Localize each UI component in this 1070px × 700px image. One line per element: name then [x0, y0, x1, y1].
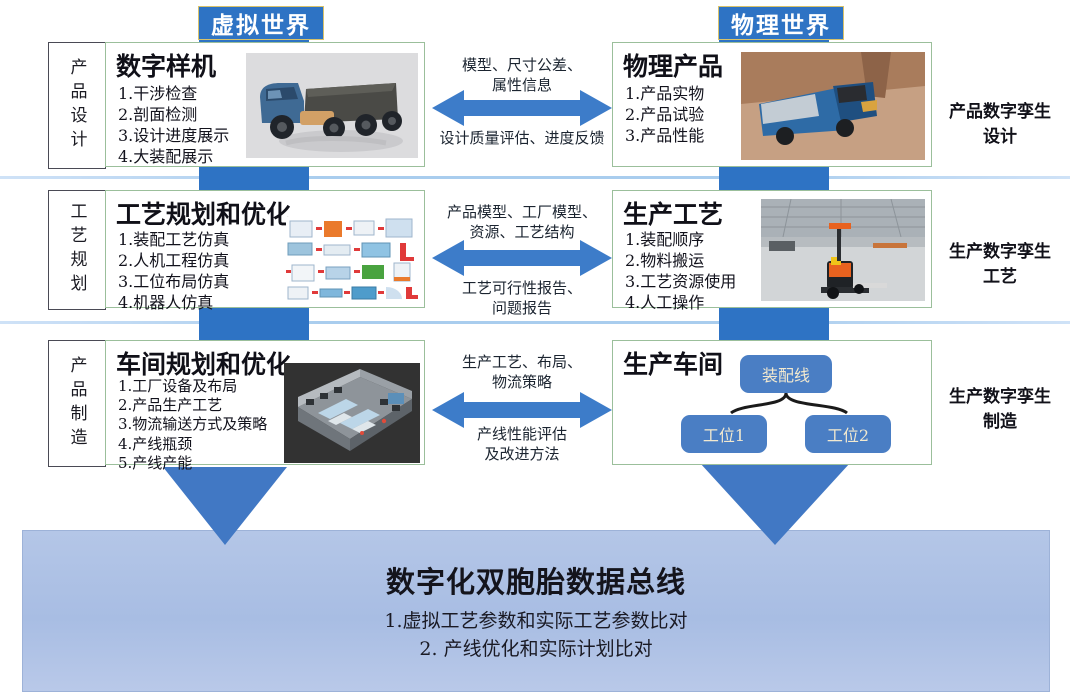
card-list-item: 5.产线产能: [118, 454, 267, 473]
exchange-label-forward: 产品模型、工厂模型、资源、工艺结构: [422, 202, 622, 243]
process-flow-icons-image: [286, 217, 418, 301]
exchange-arrow-process: [432, 238, 612, 278]
card-item-list: 1.干涉检查2.剖面检测3.设计进度展示4.大装配展示: [118, 83, 229, 167]
card-list-item: 4.大装配展示: [118, 146, 229, 167]
card-list-item: 1.工厂设备及布局: [118, 377, 267, 396]
stage-label-text: 工艺规划: [65, 202, 90, 298]
node-station-1[interactable]: 工位1: [681, 415, 767, 453]
down-arrow-virtual-to-bus: [163, 467, 287, 550]
card-list-item: 1.装配工艺仿真: [118, 229, 229, 250]
card-list-item: 4.产线瓶颈: [118, 435, 267, 454]
card-list-item: 4.人工操作: [625, 292, 736, 313]
card-list-item: 1.产品实物: [625, 83, 704, 104]
down-arrow-physical-to-bus: [700, 463, 850, 550]
card-physical-product[interactable]: 物理产品 1.产品实物2.产品试验3.产品性能: [612, 42, 932, 167]
node-station-2[interactable]: 工位2: [805, 415, 891, 453]
card-list-item: 3.物流输送方式及策略: [118, 415, 267, 434]
card-title: 工艺规划和优化: [116, 195, 291, 231]
workshop-3d-layout-image: [284, 363, 420, 463]
digital-mockup-truck-cad-image: [246, 53, 418, 158]
card-list-item: 4.机器人仿真: [118, 292, 229, 313]
exchange-label-forward: 生产工艺、布局、物流策略: [422, 352, 622, 393]
row-divider: [0, 321, 1070, 324]
data-bus-line-2: 2. 产线优化和实际计划比对: [419, 635, 652, 664]
twin-label-product-design: 产品数字孪生设计: [930, 100, 1070, 149]
card-list-item: 1.干涉检查: [118, 83, 229, 104]
row-divider: [0, 176, 1070, 179]
stage-label-text: 产品制造: [65, 356, 90, 452]
data-bus-line-1: 1.虚拟工艺参数和实际工艺参数比对: [384, 607, 687, 636]
card-title: 生产工艺: [623, 195, 723, 231]
twin-label-production-manufacturing: 生产数字孪生制造: [930, 385, 1070, 434]
exchange-label-feedback: 产线性能评估及改进方法: [422, 424, 622, 465]
card-list-item: 3.工位布局仿真: [118, 271, 229, 292]
card-process-planning[interactable]: 工艺规划和优化 1.装配工艺仿真2.人机工程仿真3.工位布局仿真4.机器人仿真: [105, 190, 425, 308]
exchange-label-forward: 模型、尺寸公差、属性信息: [422, 55, 622, 96]
stage-label-product-design: 产品设计: [48, 42, 106, 169]
card-list-item: 3.工艺资源使用: [625, 271, 736, 292]
card-list-item: 3.产品性能: [625, 125, 704, 146]
stage-label-process-planning: 工艺规划: [48, 190, 106, 310]
card-production-workshop[interactable]: 生产车间 装配线 工位1 工位2: [612, 340, 932, 465]
physical-truck-photo: [741, 52, 925, 160]
data-bus-banner: 数字化双胞胎数据总线 1.虚拟工艺参数和实际工艺参数比对 2. 产线优化和实际计…: [22, 530, 1050, 692]
card-list-item: 2.人机工程仿真: [118, 250, 229, 271]
card-item-list: 1.装配顺序2.物料搬运3.工艺资源使用4.人工操作: [625, 229, 736, 313]
node-assembly-line[interactable]: 装配线: [740, 355, 832, 393]
twin-label-production-process: 生产数字孪生工艺: [930, 240, 1070, 289]
card-title: 数字样机: [116, 47, 216, 83]
card-production-process[interactable]: 生产工艺 1.装配顺序2.物料搬运3.工艺资源使用4.人工操作: [612, 190, 932, 308]
card-list-item: 2.产品试验: [625, 104, 704, 125]
card-title: 物理产品: [623, 47, 723, 83]
card-list-item: 2.产品生产工艺: [118, 396, 267, 415]
warehouse-pallet-truck-photo: [761, 199, 925, 301]
card-workshop-planning[interactable]: 车间规划和优化 1.工厂设备及布局2.产品生产工艺3.物流输送方式及策略4.产线…: [105, 340, 425, 465]
card-digital-mockup[interactable]: 数字样机 1.干涉检查2.剖面检测3.设计进度展示4.大装配展示: [105, 42, 425, 167]
stage-label-text: 产品设计: [65, 58, 90, 154]
exchange-label-feedback: 设计质量评估、进度反馈: [422, 128, 622, 148]
card-item-list: 1.产品实物2.产品试验3.产品性能: [625, 83, 704, 146]
card-list-item: 2.物料搬运: [625, 250, 736, 271]
card-item-list: 1.工厂设备及布局2.产品生产工艺3.物流输送方式及策略4.产线瓶颈5.产线产能: [118, 377, 267, 473]
card-item-list: 1.装配工艺仿真2.人机工程仿真3.工位布局仿真4.机器人仿真: [118, 229, 229, 313]
card-list-item: 1.装配顺序: [625, 229, 736, 250]
card-list-item: 2.剖面检测: [118, 104, 229, 125]
card-title: 车间规划和优化: [116, 345, 291, 381]
card-list-item: 3.设计进度展示: [118, 125, 229, 146]
header-virtual-world: 虚拟世界: [198, 6, 324, 40]
header-physical-world: 物理世界: [718, 6, 844, 40]
data-bus-title: 数字化双胞胎数据总线: [386, 559, 686, 601]
exchange-label-feedback: 工艺可行性报告、问题报告: [422, 278, 622, 319]
stage-label-manufacturing: 产品制造: [48, 340, 106, 467]
diagram-canvas: 虚拟世界 物理世界 产品设计 工艺规划 产品制造 产品数字孪生设计 生产数字孪生…: [0, 0, 1070, 700]
